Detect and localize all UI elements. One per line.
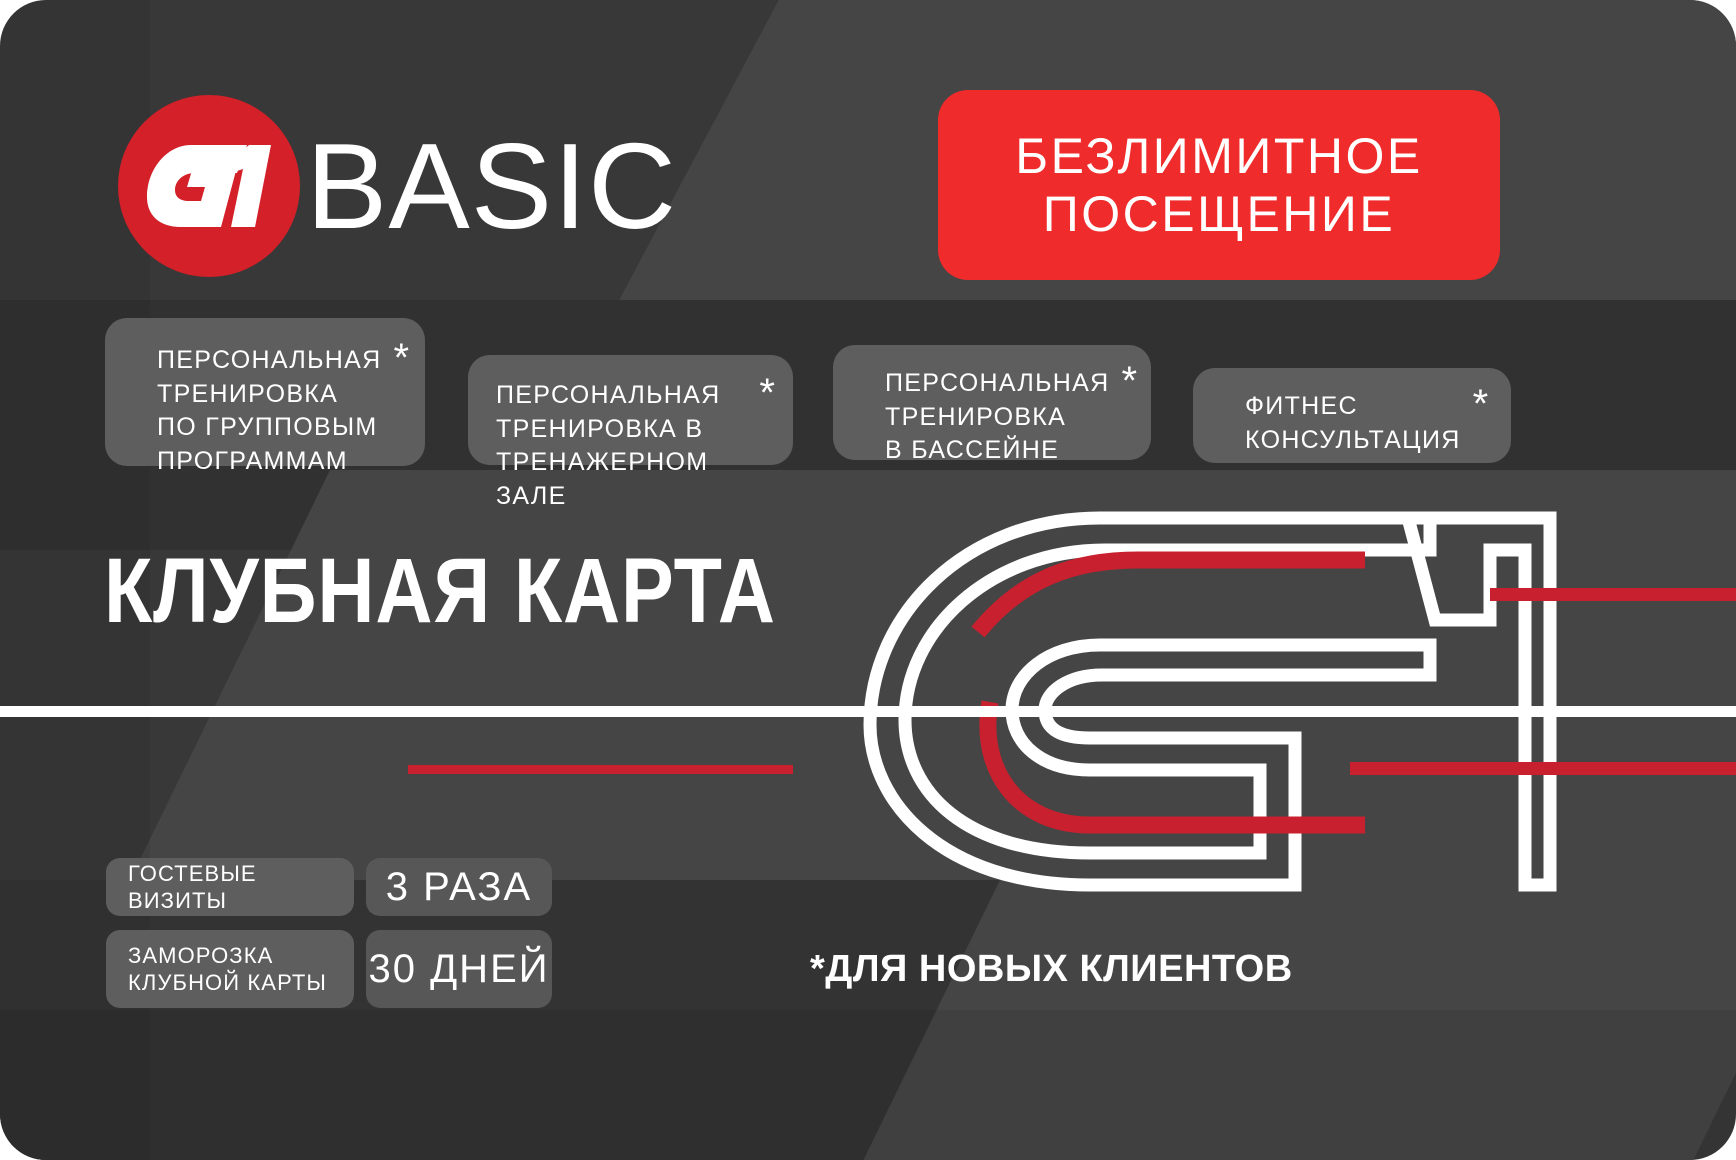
stat-row: ГОСТЕВЫЕ ВИЗИТЫ 3 РАЗА — [106, 858, 552, 916]
stat-label-chip: ЗАМОРОЗКА КЛУБНОЙ КАРТЫ — [106, 930, 354, 1008]
asterisk-icon: * — [1473, 390, 1489, 419]
footnote: *ДЛЯ НОВЫХ КЛИЕНТОВ — [810, 948, 1293, 991]
asterisk-icon: * — [393, 344, 409, 373]
asterisk-icon: * — [759, 379, 775, 408]
stats-list: ГОСТЕВЫЕ ВИЗИТЫ 3 РАЗА ЗАМОРОЗКА КЛУБНОЙ… — [106, 858, 552, 1022]
card-title: КЛУБНАЯ КАРТА — [104, 545, 776, 637]
feature-pill-label: ПЕРСОНАЛЬНАЯ ТРЕНИРОВКА В БАССЕЙНЕ — [885, 367, 1109, 468]
divider-red-rule — [408, 765, 793, 774]
feature-pill-label: ФИТНЕС КОНСУЛЬТАЦИЯ — [1245, 390, 1461, 457]
stat-label-chip: ГОСТЕВЫЕ ВИЗИТЫ — [106, 858, 354, 916]
stat-value-text: 3 РАЗА — [386, 865, 532, 910]
stat-label-text: ГОСТЕВЫЕ ВИЗИТЫ — [128, 860, 332, 915]
asterisk-icon: * — [810, 948, 825, 990]
stat-value-chip: 3 РАЗА — [366, 858, 552, 916]
stat-row: ЗАМОРОЗКА КЛУБНОЙ КАРТЫ 30 ДНЕЙ — [106, 930, 552, 1008]
feature-pill: ПЕРСОНАЛЬНАЯ ТРЕНИРОВКА В БАССЕЙНЕ * — [833, 345, 1151, 460]
feature-pill: ФИТНЕС КОНСУЛЬТАЦИЯ * — [1193, 368, 1511, 463]
footnote-text: ДЛЯ НОВЫХ КЛИЕНТОВ — [825, 948, 1292, 990]
stat-label-text: ЗАМОРОЗКА КЛУБНОЙ КАРТЫ — [128, 942, 327, 997]
divider-white-rule — [0, 706, 1736, 717]
feature-pill-list: ПЕРСОНАЛЬНАЯ ТРЕНИРОВКА ПО ГРУППОВЫМ ПРО… — [0, 0, 1736, 200]
g1-watermark-icon — [790, 470, 1736, 900]
stat-value-text: 30 ДНЕЙ — [368, 947, 549, 992]
background-shade-bottom — [0, 1010, 1736, 1160]
feature-pill-label: ПЕРСОНАЛЬНАЯ ТРЕНИРОВКА ПО ГРУППОВЫМ ПРО… — [157, 344, 381, 478]
stat-value-chip: 30 ДНЕЙ — [366, 930, 552, 1008]
asterisk-icon: * — [1121, 367, 1137, 396]
feature-pill-label: ПЕРСОНАЛЬНАЯ ТРЕНИРОВКА В ТРЕНАЖЕРНОМ ЗА… — [496, 379, 747, 513]
feature-pill: ПЕРСОНАЛЬНАЯ ТРЕНИРОВКА В ТРЕНАЖЕРНОМ ЗА… — [468, 355, 793, 465]
feature-pill: ПЕРСОНАЛЬНАЯ ТРЕНИРОВКА ПО ГРУППОВЫМ ПРО… — [105, 318, 425, 466]
membership-card: BASIC БЕЗЛИМИТНОЕ ПОСЕЩЕНИЕ ПЕРСОНАЛЬНАЯ… — [0, 0, 1736, 1160]
